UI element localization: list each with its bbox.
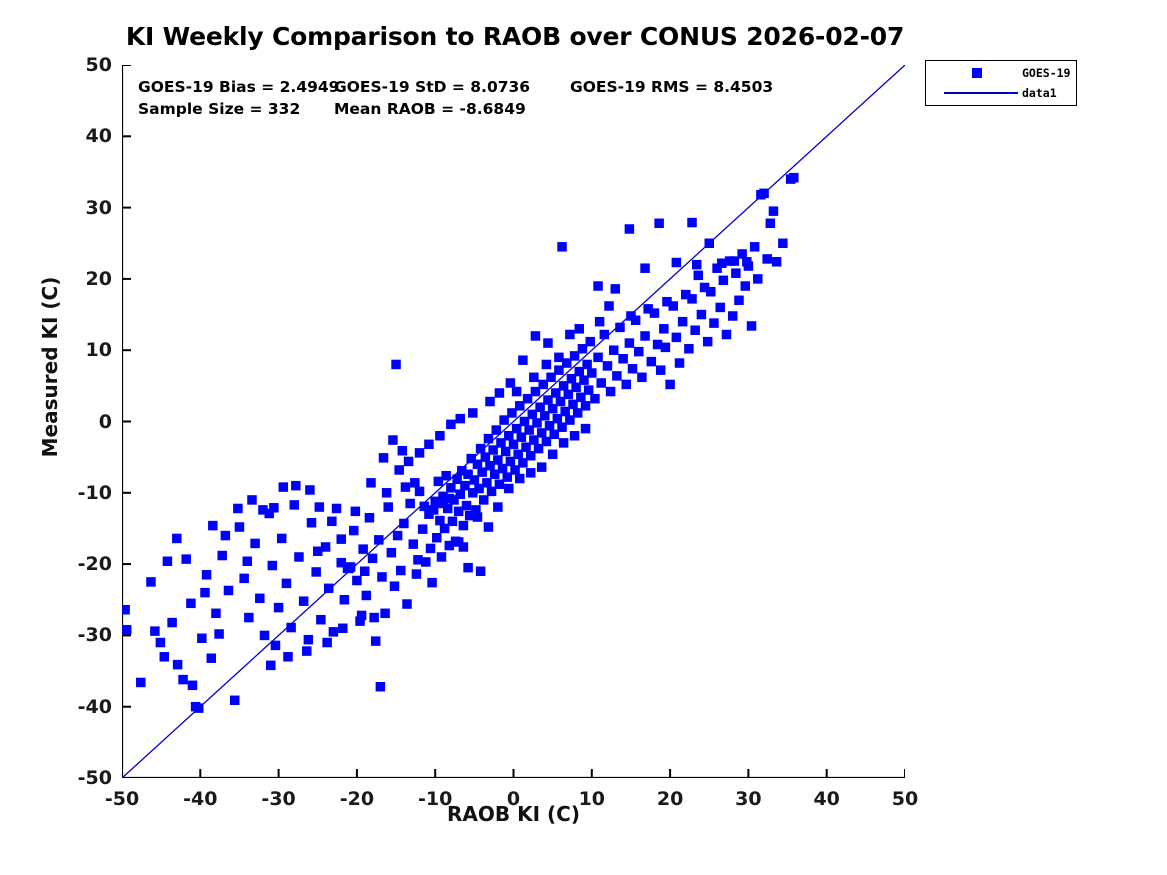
scatter-point	[456, 489, 466, 499]
scatter-point	[344, 564, 354, 574]
scatter-point	[316, 615, 326, 625]
scatter-point	[122, 625, 131, 635]
scatter-point	[332, 504, 342, 513]
scatter-point	[672, 258, 682, 268]
scatter-point	[413, 555, 423, 565]
scatter-point	[678, 317, 688, 327]
scatter-point	[412, 569, 422, 579]
scatter-point	[351, 507, 361, 517]
legend-marker-square	[926, 62, 1022, 84]
scatter-point	[383, 502, 393, 512]
scatter-point	[734, 296, 744, 306]
scatter-point	[665, 380, 675, 390]
y-tick-label: 10	[60, 339, 112, 361]
scatter-point	[305, 485, 315, 495]
plot-area	[122, 65, 905, 778]
scatter-point	[717, 258, 727, 268]
scatter-point	[336, 534, 346, 544]
scatter-point	[587, 368, 597, 378]
scatter-point	[146, 577, 156, 587]
scatter-point	[703, 337, 713, 347]
scatter-point	[307, 518, 317, 528]
scatter-point	[778, 239, 788, 249]
scatter-point	[221, 531, 231, 541]
y-tick-label: -20	[60, 553, 112, 575]
scatter-point	[690, 325, 700, 335]
scatter-point	[581, 401, 591, 411]
scatter-point	[706, 287, 716, 297]
scatter-point	[647, 357, 657, 367]
scatter-point	[747, 321, 757, 331]
scatter-point	[604, 301, 614, 311]
scatter-point	[160, 652, 170, 662]
scatter-point	[476, 566, 486, 576]
scatter-point	[376, 682, 386, 692]
scatter-point	[772, 257, 782, 267]
scatter-point	[173, 660, 183, 670]
scatter-point	[582, 360, 592, 370]
scatter-point	[211, 609, 221, 619]
scatter-point	[741, 281, 751, 291]
scatter-point	[697, 310, 707, 320]
scatter-point	[415, 448, 425, 458]
scatter-point	[529, 373, 539, 383]
scatter-point	[268, 561, 278, 571]
scatter-point	[753, 274, 763, 284]
scatter-point	[482, 478, 492, 488]
scatter-point	[559, 438, 569, 448]
legend: GOES-19 data1	[925, 60, 1077, 106]
scatter-point	[585, 337, 595, 347]
scatter-point	[357, 611, 367, 621]
scatter-point	[537, 462, 547, 472]
scatter-point	[214, 629, 224, 639]
scatter-point	[459, 542, 469, 552]
scatter-point	[186, 599, 196, 609]
scatter-point	[526, 468, 536, 478]
legend-item-data1[interactable]: data1	[926, 82, 1076, 104]
scatter-point	[324, 584, 334, 594]
scatter-point	[742, 257, 752, 267]
scatter-point	[506, 378, 516, 388]
scatter-point	[600, 330, 610, 340]
scatter-point	[365, 513, 375, 523]
scatter-point	[612, 371, 622, 381]
scatter-point	[274, 603, 284, 613]
scatter-point	[286, 623, 296, 633]
page-title: KI Weekly Comparison to RAOB over CONUS …	[0, 22, 1030, 51]
scatter-point	[290, 500, 300, 510]
scatter-point	[208, 521, 218, 531]
scatter-point	[313, 547, 323, 557]
scatter-point	[593, 281, 603, 291]
scatter-point	[730, 256, 740, 266]
y-tick-label: -40	[60, 696, 112, 718]
scatter-point	[409, 539, 419, 549]
scatter-point	[429, 505, 439, 515]
scatter-point	[446, 420, 456, 430]
scatter-point	[634, 347, 644, 357]
scatter-point	[675, 358, 685, 368]
scatter-point	[463, 563, 473, 573]
scatter-point	[565, 330, 575, 340]
scatter-point	[448, 517, 458, 527]
scatter-point	[593, 353, 603, 363]
scatter-point	[661, 343, 671, 353]
scatter-point	[266, 661, 276, 671]
scatter-point	[715, 303, 725, 313]
scatter-point	[271, 641, 281, 651]
scatter-point	[283, 652, 293, 662]
scatter-point	[418, 524, 428, 534]
scatter-point	[672, 333, 682, 343]
scatter-point	[349, 526, 359, 536]
y-tick-label: 0	[60, 411, 112, 433]
scatter-point	[625, 224, 635, 234]
scatter-point	[493, 502, 503, 512]
scatter-point	[224, 586, 234, 596]
scatter-point	[542, 360, 552, 370]
scatter-point	[596, 378, 606, 388]
scatter-point	[554, 353, 564, 363]
scatter-point	[398, 446, 408, 456]
scatter-point	[366, 478, 376, 488]
scatter-point	[427, 578, 437, 588]
scatter-point	[687, 294, 697, 304]
y-tick-label: -30	[60, 624, 112, 646]
scatter-point	[163, 556, 173, 566]
scatter-point	[202, 570, 212, 580]
scatter-point	[402, 599, 412, 609]
scatter-point	[277, 534, 287, 544]
scatter-point	[437, 552, 447, 562]
scatter-point	[640, 263, 650, 273]
scatter-point	[374, 535, 384, 545]
scatter-point	[243, 556, 253, 566]
scatter-point	[432, 533, 442, 543]
scatter-point	[340, 595, 350, 605]
identity-reference-line	[122, 65, 905, 778]
scatter-point	[515, 474, 525, 484]
scatter-point	[459, 521, 469, 531]
scatter-point	[512, 387, 521, 397]
scatter-point	[762, 254, 772, 264]
scatter-point	[415, 487, 425, 497]
scatter-point	[181, 554, 191, 564]
scatter-point	[368, 554, 378, 564]
scatter-point	[396, 566, 406, 576]
scatter-point	[390, 581, 400, 591]
scatter-point	[668, 301, 678, 311]
scatter-point	[769, 206, 779, 216]
legend-label-data1: data1	[1022, 82, 1076, 104]
scatter-point	[401, 482, 411, 492]
y-tick-label: 40	[60, 125, 112, 147]
scatter-point	[358, 544, 368, 554]
scatter-point	[304, 635, 314, 645]
scatter-point	[419, 502, 429, 512]
scatter-point	[197, 634, 207, 644]
scatter-point	[156, 638, 166, 648]
scatter-point	[258, 505, 268, 515]
scatter-point	[188, 681, 198, 691]
scatter-point	[294, 552, 304, 562]
scatter-point	[322, 638, 332, 648]
scatter-point	[654, 219, 664, 229]
scatter-point	[719, 276, 729, 286]
scatter-point	[473, 512, 483, 522]
scatter-point	[255, 594, 264, 604]
scatter-point	[492, 425, 502, 435]
scatter-point	[584, 385, 594, 395]
scatter-point	[239, 574, 249, 584]
scatter-point	[371, 636, 381, 646]
scatter-point	[329, 627, 339, 637]
scatter-point	[581, 424, 591, 434]
legend-marker-line	[926, 82, 1022, 104]
scatter-point	[311, 567, 321, 577]
scatter-point	[462, 501, 472, 511]
scatter-point	[615, 323, 625, 333]
scatter-point	[387, 548, 397, 558]
scatter-point	[694, 271, 704, 281]
scatter-point	[207, 653, 217, 663]
scatter-point	[362, 591, 372, 601]
scatter-point	[327, 517, 337, 527]
scatter-point	[172, 534, 182, 544]
scatter-point	[518, 355, 528, 365]
scatter-point	[687, 218, 697, 228]
scatter-plot-svg	[122, 65, 905, 778]
scatter-point	[618, 354, 628, 364]
scatter-point	[575, 324, 585, 334]
scatter-point	[247, 495, 257, 505]
scatter-point	[611, 284, 621, 294]
y-axis-label: Measured KI (C)	[38, 267, 62, 467]
scatter-point	[377, 572, 387, 582]
scatter-point	[476, 444, 486, 454]
y-tick-label: 50	[60, 54, 112, 76]
scatter-point	[338, 624, 348, 634]
scatter-point	[595, 317, 605, 327]
scatter-point	[625, 338, 635, 348]
scatter-point	[122, 605, 130, 615]
scatter-point	[637, 373, 647, 383]
scatter-point	[485, 397, 495, 407]
scatter-point	[200, 588, 210, 598]
scatter-point	[543, 338, 553, 348]
scatter-point	[548, 450, 558, 460]
scatter-point	[731, 268, 741, 278]
scatter-point	[388, 435, 398, 445]
scatter-point	[650, 308, 660, 318]
scatter-point	[728, 311, 738, 321]
scatter-point	[789, 173, 799, 183]
scatter-point	[628, 364, 638, 374]
scatter-point	[445, 494, 455, 504]
scatter-point	[299, 596, 309, 606]
scatter-point	[391, 360, 401, 370]
scatter-point	[570, 431, 580, 441]
scatter-point	[557, 242, 567, 252]
scatter-point	[456, 414, 466, 424]
scatter-point	[291, 481, 301, 491]
scatter-point	[379, 453, 389, 463]
chart-root: KI Weekly Comparison to RAOB over CONUS …	[0, 0, 1167, 875]
y-tick-label: 30	[60, 197, 112, 219]
scatter-point	[136, 678, 146, 688]
scatter-point	[435, 431, 445, 441]
y-tick-label: 20	[60, 268, 112, 290]
scatter-point	[750, 242, 760, 252]
scatter-point	[167, 618, 177, 628]
scatter-point	[656, 365, 666, 375]
scatter-point	[360, 566, 370, 576]
scatter-point	[244, 613, 254, 623]
scatter-point	[631, 316, 641, 326]
y-tick-label: -50	[60, 767, 112, 789]
scatter-point	[622, 380, 632, 390]
scatter-point	[399, 519, 409, 529]
scatter-point	[705, 239, 715, 249]
scatter-point	[446, 483, 456, 493]
scatter-point	[606, 387, 616, 397]
scatter-point	[640, 331, 650, 341]
scatter-point	[766, 219, 776, 229]
scatter-point	[590, 394, 600, 404]
scatter-point	[722, 330, 732, 340]
scatter-point	[369, 613, 379, 623]
scatter-point	[217, 551, 227, 561]
scatter-point	[692, 260, 702, 270]
scatter-point	[426, 544, 436, 554]
x-axis-label: RAOB KI (C)	[122, 802, 905, 826]
scatter-point	[235, 522, 245, 532]
scatter-point	[759, 189, 769, 199]
scatter-point	[659, 324, 669, 334]
scatter-point	[194, 703, 204, 713]
scatter-point	[709, 318, 719, 328]
scatter-point	[250, 539, 259, 549]
scatter-point	[178, 675, 188, 685]
scatter-point	[684, 344, 694, 354]
scatter-point	[150, 626, 160, 636]
scatter-point	[495, 388, 505, 398]
scatter-point	[282, 579, 292, 589]
scatter-point	[380, 609, 390, 619]
scatter-point	[279, 482, 289, 492]
scatter-point	[230, 696, 240, 706]
y-tick-label: -10	[60, 482, 112, 504]
scatter-point	[315, 502, 325, 512]
scatter-point	[493, 455, 503, 465]
scatter-point	[352, 576, 362, 586]
scatter-point	[393, 531, 403, 541]
scatter-point	[394, 465, 404, 475]
scatter-point	[404, 457, 414, 467]
scatter-point	[260, 631, 270, 641]
scatter-point	[410, 478, 420, 488]
scatter-point	[609, 345, 619, 355]
scatter-point	[405, 499, 415, 509]
scatter-point	[484, 434, 494, 444]
scatter-point	[484, 522, 494, 532]
legend-item-goes19[interactable]: GOES-19	[926, 62, 1076, 84]
scatter-point	[424, 440, 434, 450]
scatter-point	[479, 495, 489, 505]
scatter-point	[468, 408, 478, 418]
scatter-point	[603, 361, 613, 371]
scatter-point	[302, 646, 312, 656]
scatter-point	[441, 471, 451, 481]
scatter-point	[269, 503, 279, 513]
scatter-point	[531, 331, 541, 341]
scatter-point	[382, 488, 392, 498]
scatter-point	[504, 484, 514, 494]
scatter-point	[233, 504, 243, 513]
legend-label-goes19: GOES-19	[1022, 62, 1076, 84]
